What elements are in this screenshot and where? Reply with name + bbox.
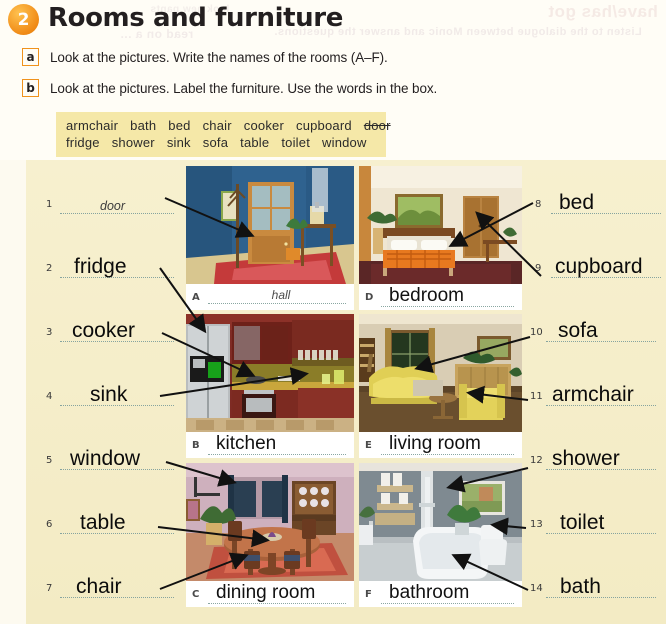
answer-number-2: 2 <box>46 263 52 274</box>
answer-number-10: 10 <box>530 327 543 338</box>
caption-f: F bathroom <box>359 581 522 607</box>
photo-letter-f: F <box>365 589 381 600</box>
answer-value-1[interactable]: door <box>100 199 125 213</box>
room-answer-a[interactable]: hall <box>208 288 346 304</box>
word-bath[interactable]: bath <box>130 118 156 133</box>
instruction-tag-b: b <box>22 79 39 97</box>
answer-row-9: 9 cupboard <box>535 254 663 280</box>
photo-letter-c: C <box>192 589 208 600</box>
answer-number-1: 1 <box>46 199 52 210</box>
answer-value-12[interactable]: shower <box>552 448 620 469</box>
page-title: Rooms and furniture <box>48 3 343 33</box>
room-answer-b[interactable]: kitchen <box>208 434 346 455</box>
instruction-a: aLook at the pictures. Write the names o… <box>22 48 388 68</box>
word-sink[interactable]: sink <box>167 135 191 150</box>
room-answer-e[interactable]: living room <box>381 434 514 455</box>
answer-row-10: 10 sofa <box>530 318 662 344</box>
answer-row-13: 13 toilet <box>530 510 662 536</box>
word-bank-box: armchairbathbedchaircookercupboarddoor f… <box>56 112 386 157</box>
word-bank-row-2: fridgeshowersinksofatabletoiletwindow <box>66 134 376 151</box>
answer-value-7[interactable]: chair <box>76 576 122 597</box>
page-margin <box>0 160 26 624</box>
answer-number-9: 9 <box>535 263 541 274</box>
answer-value-9[interactable]: cupboard <box>555 256 643 277</box>
caption-b: B kitchen <box>186 432 354 458</box>
word-door-struck[interactable]: door <box>364 118 391 133</box>
instruction-b: bLook at the pictures. Label the furnitu… <box>22 79 437 99</box>
word-bed[interactable]: bed <box>168 118 190 133</box>
answer-value-10[interactable]: sofa <box>558 320 598 341</box>
answer-number-5: 5 <box>46 455 52 466</box>
answer-row-5: 5 window <box>46 446 174 472</box>
caption-c: C dining room <box>186 581 354 607</box>
room-answer-c[interactable]: dining room <box>208 583 346 604</box>
word-toilet[interactable]: toilet <box>281 135 310 150</box>
room-answer-d[interactable]: bedroom <box>381 286 514 307</box>
caption-e: E living room <box>359 432 522 458</box>
room-answer-f[interactable]: bathroom <box>381 583 514 604</box>
photo-c-dining-room <box>186 463 354 581</box>
caption-a: A hall <box>186 284 354 310</box>
answer-row-2: 2 fridge <box>46 254 174 280</box>
photo-d-bedroom <box>359 166 522 284</box>
photo-letter-b: B <box>192 440 208 451</box>
answer-row-8: 8 bed <box>535 190 663 216</box>
answer-value-5[interactable]: window <box>70 448 140 469</box>
answer-row-4: 4 sink <box>46 382 174 408</box>
word-shower[interactable]: shower <box>112 135 155 150</box>
answer-row-3: 3 cooker <box>46 318 174 344</box>
worksheet-page: have/has got Listen to the dialogue betw… <box>0 0 666 624</box>
answer-value-4[interactable]: sink <box>90 384 127 405</box>
instruction-text-b: Look at the pictures. Label the furnitur… <box>50 81 437 96</box>
word-sofa[interactable]: sofa <box>203 135 228 150</box>
answer-row-6: 6 table <box>46 510 174 536</box>
answer-value-8[interactable]: bed <box>559 192 594 213</box>
answer-number-12: 12 <box>530 455 543 466</box>
answer-row-7: 7 chair <box>46 574 174 600</box>
answer-row-11: 11 armchair <box>530 382 662 408</box>
word-window[interactable]: window <box>322 135 367 150</box>
photo-letter-d: D <box>365 292 381 303</box>
photo-letter-e: E <box>365 440 381 451</box>
caption-d: D bedroom <box>359 284 522 310</box>
word-bank-row-1: armchairbathbedchaircookercupboarddoor <box>66 117 376 134</box>
answer-row-12: 12 shower <box>530 446 662 472</box>
photo-b-kitchen <box>186 314 354 432</box>
answer-number-3: 3 <box>46 327 52 338</box>
answer-value-14[interactable]: bath <box>560 576 601 597</box>
instruction-text-a: Look at the pictures. Write the names of… <box>50 50 388 65</box>
word-armchair[interactable]: armchair <box>66 118 118 133</box>
answer-number-8: 8 <box>535 199 541 210</box>
photo-a-hall <box>186 166 354 284</box>
answer-value-3[interactable]: cooker <box>72 320 135 341</box>
photo-e-living-room <box>359 314 522 432</box>
answer-row-1: 1 door <box>46 190 174 216</box>
answer-number-6: 6 <box>46 519 52 530</box>
section-header: 2 Rooms and furniture <box>0 0 666 38</box>
word-chair[interactable]: chair <box>203 118 232 133</box>
word-cupboard[interactable]: cupboard <box>296 118 352 133</box>
answer-value-13[interactable]: toilet <box>560 512 604 533</box>
answer-number-4: 4 <box>46 391 52 402</box>
photo-letter-a: A <box>192 292 208 303</box>
answer-number-7: 7 <box>46 583 52 594</box>
word-table[interactable]: table <box>240 135 269 150</box>
photo-f-bathroom <box>359 463 522 581</box>
answer-row-14: 14 bath <box>530 574 662 600</box>
answer-value-11[interactable]: armchair <box>552 384 634 405</box>
unit-number-badge: 2 <box>8 4 39 35</box>
answer-value-6[interactable]: table <box>80 512 126 533</box>
answer-number-13: 13 <box>530 519 543 530</box>
answer-value-2[interactable]: fridge <box>74 256 127 277</box>
word-fridge[interactable]: fridge <box>66 135 100 150</box>
instruction-tag-a: a <box>22 48 39 66</box>
answer-number-11: 11 <box>530 391 543 402</box>
word-cooker[interactable]: cooker <box>244 118 284 133</box>
answer-number-14: 14 <box>530 583 543 594</box>
